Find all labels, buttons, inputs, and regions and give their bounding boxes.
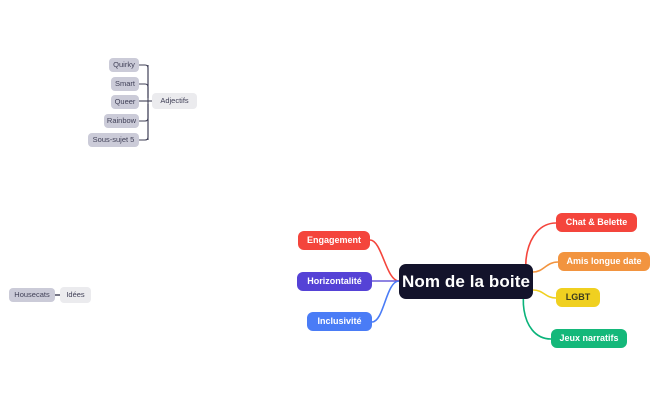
mindmap-canvas[interactable]: Quirky Smart Queer Rainbow Sous-sujet 5 … — [0, 0, 657, 407]
node-idees[interactable]: Idées — [60, 287, 91, 303]
node-label: Idées — [66, 291, 84, 299]
node-root-nom-de-la-boite[interactable]: Nom de la boite — [399, 264, 533, 299]
node-label: Chat & Belette — [566, 218, 628, 227]
node-smart[interactable]: Smart — [111, 77, 139, 91]
node-label: Housecats — [14, 291, 49, 299]
edge-adjectifs-quirky — [139, 65, 148, 98]
node-label: Sous-sujet 5 — [93, 136, 135, 144]
node-chat-et-belette[interactable]: Chat & Belette — [556, 213, 637, 232]
node-queer[interactable]: Queer — [111, 95, 139, 109]
node-label: Horizontalité — [307, 277, 362, 286]
node-quirky[interactable]: Quirky — [109, 58, 139, 72]
node-horizontalite[interactable]: Horizontalité — [297, 272, 372, 291]
node-engagement[interactable]: Engagement — [298, 231, 370, 250]
node-label: Inclusivité — [317, 317, 361, 326]
node-label: Smart — [115, 80, 135, 88]
node-label: Adjectifs — [160, 97, 188, 105]
node-label: Rainbow — [107, 117, 136, 125]
node-adjectifs[interactable]: Adjectifs — [152, 93, 197, 109]
edge-root-inclusivite — [372, 281, 399, 322]
node-housecats[interactable]: Housecats — [9, 288, 55, 302]
node-amis-longue-date[interactable]: Amis longue date — [558, 252, 650, 271]
node-label: Jeux narratifs — [559, 334, 618, 343]
node-jeux-narratifs[interactable]: Jeux narratifs — [551, 329, 627, 348]
node-label: Amis longue date — [567, 257, 642, 266]
edge-root-amis-longue-date — [533, 262, 558, 272]
edge-adjectifs-smart — [139, 84, 148, 98]
node-label: Quirky — [113, 61, 135, 69]
node-inclusivite[interactable]: Inclusivité — [307, 312, 372, 331]
node-label: LGBT — [566, 293, 591, 302]
node-rainbow[interactable]: Rainbow — [104, 114, 139, 128]
edge-adjectifs-sous-sujet-5 — [139, 104, 148, 140]
node-label: Queer — [115, 98, 136, 106]
edge-root-lgbt — [533, 290, 556, 298]
node-lgbt[interactable]: LGBT — [556, 288, 600, 307]
edge-root-engagement — [370, 240, 399, 281]
node-label: Engagement — [307, 236, 361, 245]
edge-adjectifs-rainbow — [139, 104, 148, 121]
node-label: Nom de la boite — [402, 273, 530, 290]
node-sous-sujet-5[interactable]: Sous-sujet 5 — [88, 133, 139, 147]
